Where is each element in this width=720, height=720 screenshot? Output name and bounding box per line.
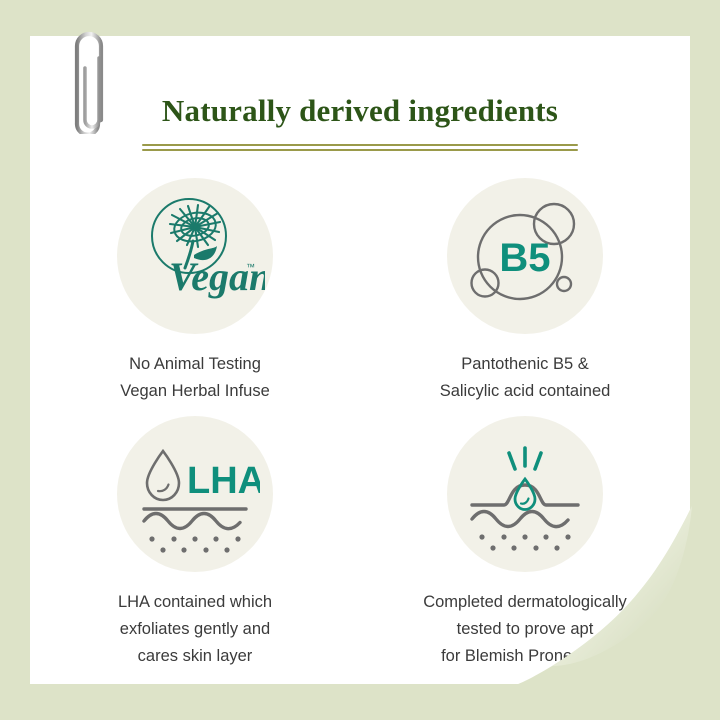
sparkle-rays — [509, 448, 541, 469]
feature-caption: No Animal Testing Vegan Herbal Infuse — [120, 351, 270, 404]
lha-label: LHA — [187, 460, 260, 502]
caption-line: LHA contained which — [118, 589, 272, 616]
b5-label: B5 — [499, 236, 550, 280]
caption-line: for Blemish Prone Skin — [423, 643, 627, 670]
droplet-shape — [147, 451, 179, 500]
dot-row-upper — [149, 537, 240, 542]
feature-item-b5: B5 Pantothenic B5 & Salicylic acid conta… — [360, 178, 690, 404]
vegan-wordmark: Vegan — [169, 254, 265, 299]
skin-wave-line — [472, 512, 568, 527]
info-card: Naturally derived ingredients — [30, 36, 690, 684]
dot-row-lower — [490, 546, 559, 551]
page-background: Naturally derived ingredients — [0, 0, 720, 720]
feature-item-derm-tested: Completed dermatologically tested to pro… — [360, 416, 690, 669]
lha-droplet-skin-layer-icon: LHA — [130, 429, 260, 559]
dot-row-lower — [160, 548, 229, 553]
lha-icon-badge: LHA — [117, 416, 273, 572]
title-divider — [142, 144, 578, 151]
feature-caption: Completed dermatologically tested to pro… — [423, 589, 627, 669]
caption-line: Pantothenic B5 & — [440, 351, 611, 378]
caption-line: Vegan Herbal Infuse — [120, 378, 270, 405]
caption-line: No Animal Testing — [120, 351, 270, 378]
caption-line: cares skin layer — [118, 643, 272, 670]
derm-tested-icon-badge — [447, 416, 603, 572]
feature-caption: Pantothenic B5 & Salicylic acid containe… — [440, 351, 611, 404]
header: Naturally derived ingredients — [30, 94, 690, 151]
vegan-logo-icon: Vegan ™ — [125, 186, 265, 326]
page-title: Naturally derived ingredients — [30, 94, 690, 128]
paperclip-icon — [66, 28, 114, 134]
caption-line: Salicylic acid contained — [440, 378, 611, 405]
vegan-icon-badge: Vegan ™ — [117, 178, 273, 334]
caption-line: exfoliates gently and — [118, 616, 272, 643]
dot-row-upper — [479, 535, 570, 540]
caption-line: tested to prove apt — [423, 616, 627, 643]
features-grid: Vegan ™ No Animal Testing Vegan Herbal I… — [30, 178, 690, 670]
b5-icon-badge: B5 — [447, 178, 603, 334]
feature-item-vegan: Vegan ™ No Animal Testing Vegan Herbal I… — [30, 178, 360, 404]
dermatologically-tested-skin-icon — [460, 429, 590, 559]
feature-caption: LHA contained which exfoliates gently an… — [118, 589, 272, 669]
b5-molecule-icon: B5 — [460, 191, 590, 321]
caption-line: Completed dermatologically — [423, 589, 627, 616]
feature-item-lha: LHA — [30, 416, 360, 669]
trademark-symbol: ™ — [246, 262, 255, 272]
